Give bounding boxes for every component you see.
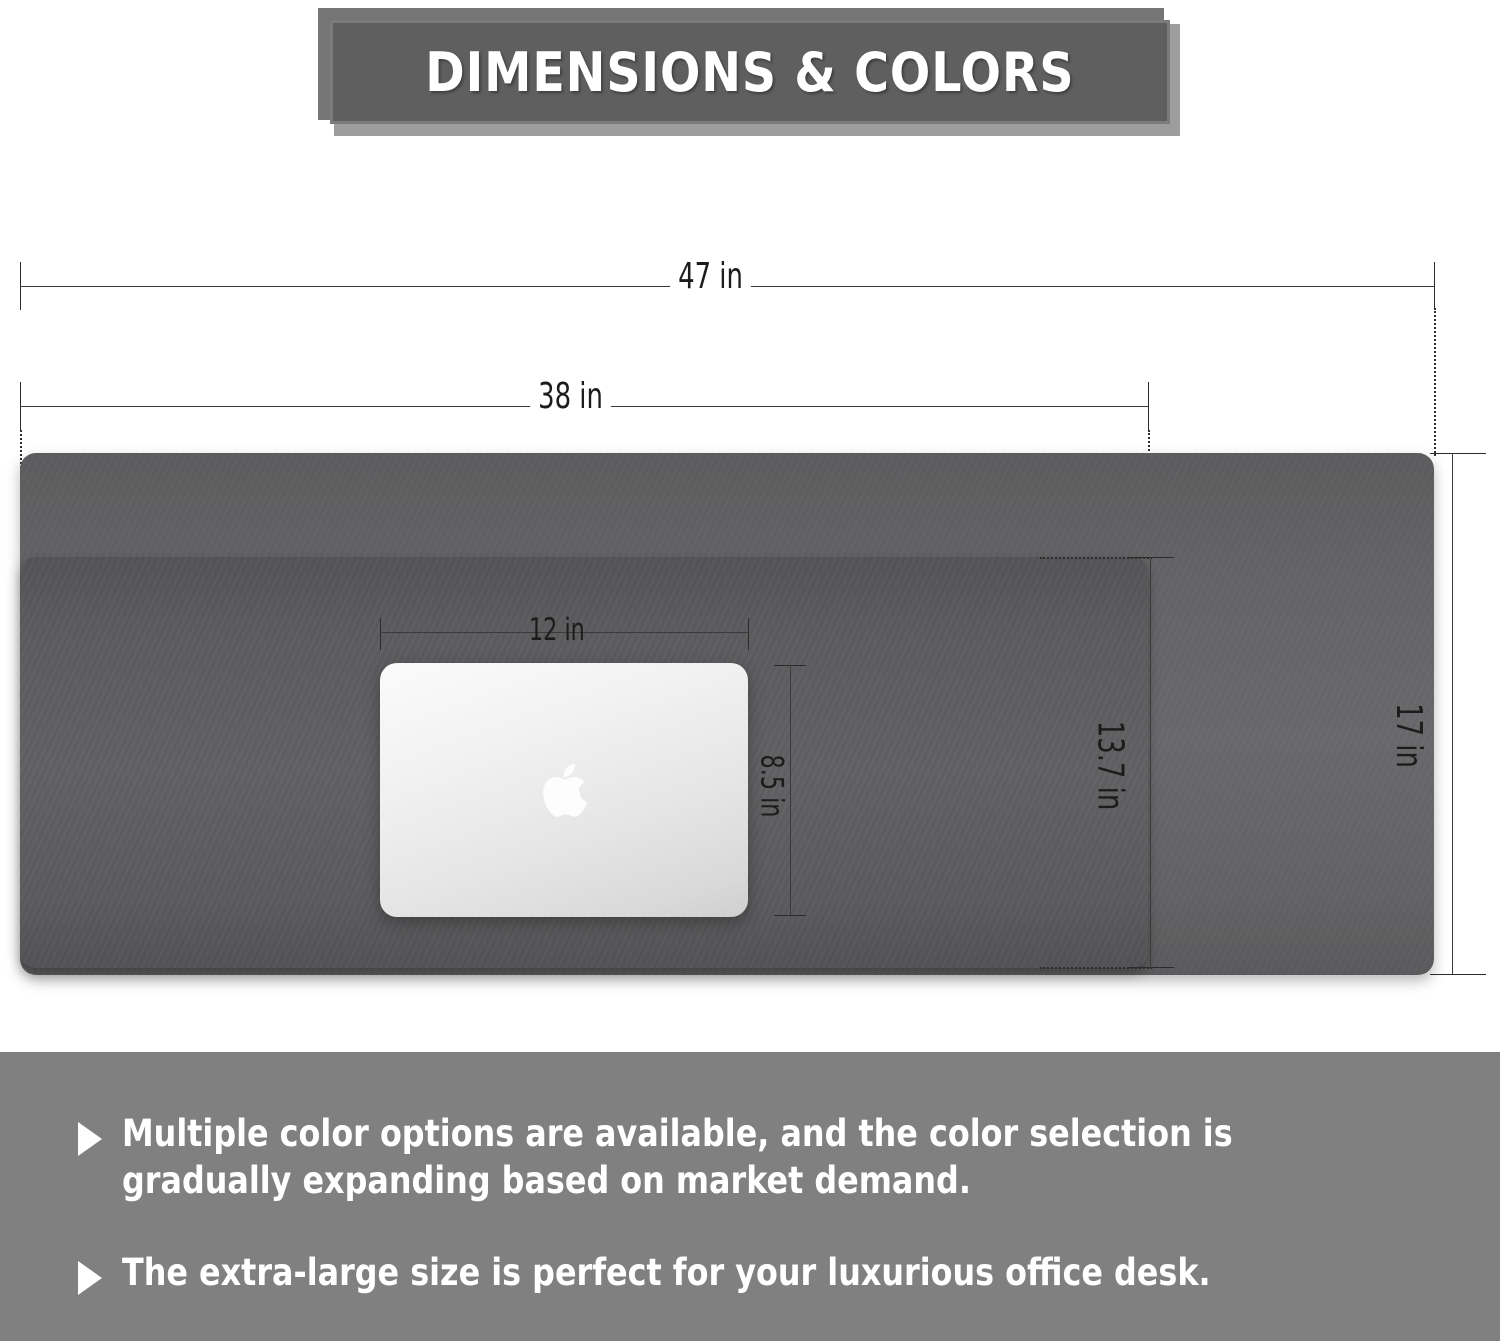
dim-17-top-tick [1430,453,1486,454]
page-title: DIMENSIONS & COLORS [425,41,1074,104]
apple-logo-icon [538,759,590,821]
dim-85-label: 8.5 in [753,747,789,826]
dim-137-top-tick [1128,557,1174,558]
guide-right-outer [1434,308,1436,456]
dim-137-bottom-tick [1128,967,1174,968]
dim-17-bottom-tick [1430,974,1486,975]
bullet-text: Multiple color options are available, an… [122,1110,1247,1205]
macbook-illustration [380,663,748,917]
dim-38-label: 38 in [530,376,611,417]
dim-12-left-tick [380,618,381,650]
dim-12-label: 12 in [521,612,593,648]
dim-137-label: 13.7 in [1089,713,1130,819]
dim-85-bottom-tick [774,915,806,916]
dim-47-label: 47 in [670,256,751,297]
dim-47-right-tick [1434,262,1435,310]
header-banner: DIMENSIONS & COLORS [330,20,1170,124]
bullet-item: Multiple color options are available, an… [78,1110,1430,1205]
infographic-canvas: DIMENSIONS & COLORS 47 in 38 in 13.7 in … [0,0,1500,1341]
dim-12-right-tick [748,618,749,650]
dim-17-line [1452,453,1453,974]
dim-137-line [1150,557,1151,968]
bullet-text: The extra-large size is perfect for your… [122,1249,1247,1296]
bullet-item: The extra-large size is perfect for your… [78,1249,1430,1296]
triangle-bullet-icon [78,1122,102,1156]
dim-85-line [790,665,791,915]
footer-panel: Multiple color options are available, an… [0,1052,1500,1341]
dim-38-right-tick [1148,382,1149,430]
dim-17-label: 17 in [1388,695,1429,776]
triangle-bullet-icon [78,1261,102,1295]
